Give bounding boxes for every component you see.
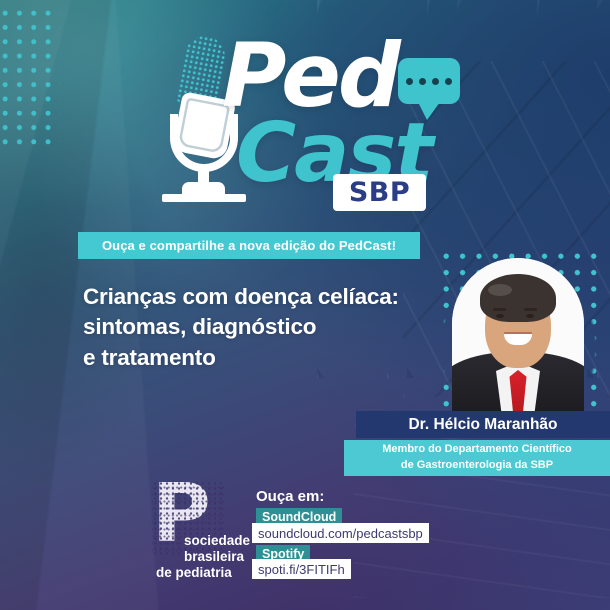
bubble-dot-1	[406, 78, 413, 85]
sbp-badge-label: SBP	[349, 177, 410, 208]
platform-url-spotify-text: spoti.fi/3FITIFh	[258, 562, 345, 577]
speaker-name: Dr. Hélcio Maranhão	[408, 416, 557, 434]
bubble-dot-2	[419, 78, 426, 85]
episode-title-line-3: e tratamento	[83, 343, 423, 373]
sbp-logo-line-3: de pediatria	[156, 565, 250, 581]
speaker-credentials-line-1: Membro do Departamento Científico	[382, 442, 571, 458]
pedcast-episode-poster: Ped Cast SBP Ouça e compartilhe a nova e…	[0, 0, 610, 610]
microphone-base-icon	[162, 194, 246, 202]
bubble-dot-3	[432, 78, 439, 85]
speaker-credentials-line-2: de Gastroenterologia da SBP	[401, 458, 553, 474]
listen-label: Ouça em:	[256, 488, 324, 505]
speech-bubble-icon	[398, 58, 460, 104]
portrait-brow-left	[493, 308, 506, 311]
callout-banner-text: Ouça e compartilhe a nova edição do PedC…	[102, 238, 396, 253]
episode-title-line-1: Crianças com doença celíaca:	[83, 282, 423, 312]
bubble-dot-4	[445, 78, 452, 85]
sbp-organization-logo: sociedade brasileira de pediatria	[152, 489, 256, 577]
sbp-logo-line-1: sociedade	[184, 533, 250, 549]
platform-name-soundcloud: SoundCloud	[262, 510, 336, 524]
episode-title-line-2: sintomas, diagnóstico	[83, 312, 423, 342]
platform-url-spotify[interactable]: spoti.fi/3FITIFh	[252, 559, 351, 579]
platform-url-soundcloud-text: soundcloud.com/pedcastsbp	[258, 526, 423, 541]
speaker-name-bar: Dr. Hélcio Maranhão	[356, 411, 610, 438]
portrait-eye-right	[526, 314, 534, 318]
callout-banner: Ouça e compartilhe a nova edição do PedC…	[78, 232, 420, 259]
portrait-eye-left	[496, 314, 504, 318]
portrait-hair	[480, 274, 556, 322]
portrait-brow-right	[524, 308, 537, 311]
episode-title: Crianças com doença celíaca: sintomas, d…	[83, 282, 423, 373]
sbp-logo-line-2: brasileira	[184, 549, 250, 565]
pedcast-logo: Ped Cast SBP	[0, 0, 610, 225]
speaker-portrait	[452, 258, 584, 418]
sbp-logo-wordmark: sociedade brasileira de pediatria	[184, 533, 250, 581]
speaker-credentials-bar: Membro do Departamento Científico de Gas…	[344, 440, 610, 476]
sbp-badge: SBP	[333, 174, 426, 211]
platform-url-soundcloud[interactable]: soundcloud.com/pedcastsbp	[252, 523, 429, 543]
